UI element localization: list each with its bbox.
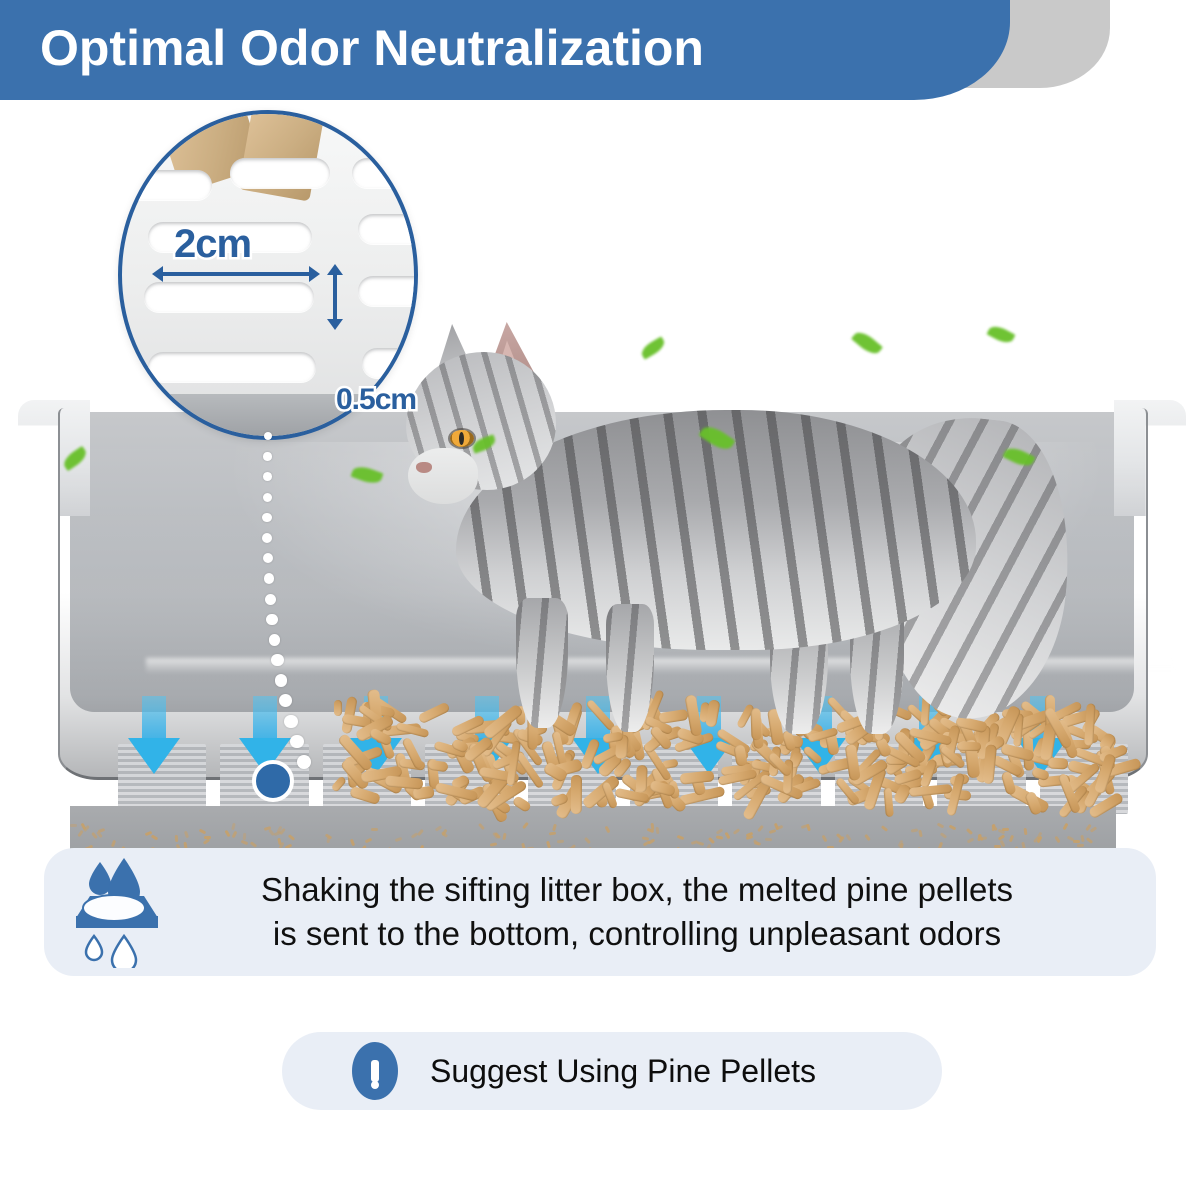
- pine-pellet: [679, 770, 714, 784]
- sawdust-speck: [1080, 835, 1084, 842]
- width-dimension-arrow: [152, 266, 320, 280]
- cat-front-right-leg: [606, 604, 654, 732]
- sawdust-speck: [765, 838, 772, 842]
- connector-dot: [275, 674, 288, 687]
- grate-slot: [352, 158, 418, 188]
- arrow-bottom-head: [327, 319, 343, 330]
- sawdust-speck: [716, 835, 723, 839]
- product-scene: 2cm 0.5cm: [0, 100, 1200, 830]
- sawdust-speck: [243, 832, 247, 839]
- pine-pellet: [1048, 757, 1068, 769]
- width-dimension-label: 2cm: [174, 222, 251, 267]
- connector-dot: [265, 594, 276, 605]
- sawdust-speck: [864, 834, 871, 841]
- connector-dot: [263, 472, 272, 481]
- sawdust-speck: [979, 836, 987, 841]
- connector-dot: [290, 735, 304, 749]
- sawdust-speck: [151, 834, 159, 840]
- sawdust-speck: [490, 842, 497, 846]
- connector-dot: [297, 755, 311, 769]
- pine-pellet: [635, 765, 647, 793]
- sawdust-speck: [648, 838, 656, 844]
- infographic-page: Optimal Odor Neutralization: [0, 0, 1200, 1200]
- grate-slot: [358, 214, 418, 244]
- connector-dot: [269, 634, 281, 646]
- arrow-right-head: [309, 266, 320, 282]
- sawdust-speck: [502, 833, 506, 840]
- sawdust-speck: [584, 837, 591, 844]
- height-dimension-label: 0.5cm: [336, 383, 416, 417]
- sawdust-speck: [1076, 844, 1083, 848]
- exclamation-icon: [352, 1042, 398, 1100]
- connector-dot: [262, 533, 272, 543]
- sawdust-speck: [1086, 837, 1093, 844]
- info-line-1: Shaking the sifting litter box, the melt…: [162, 868, 1112, 912]
- sawdust-speck: [232, 831, 238, 839]
- cat-eye: [450, 430, 474, 447]
- odor-info-text: Shaking the sifting litter box, the melt…: [162, 868, 1130, 955]
- sawdust-speck: [349, 839, 354, 847]
- sawdust-speck: [940, 833, 947, 840]
- pine-pellet: [845, 743, 861, 780]
- pine-pellet: [802, 745, 823, 765]
- arrow-shaft: [142, 696, 166, 740]
- pine-pellet: [349, 786, 381, 806]
- connector-dot: [284, 715, 297, 728]
- sawdust-speck: [708, 837, 715, 844]
- suggest-banner: Suggest Using Pine Pellets: [282, 1032, 942, 1110]
- pine-pellet: [957, 742, 981, 751]
- sawdust-speck: [919, 830, 923, 837]
- grate-slot: [230, 158, 330, 188]
- sawdust-speck: [224, 830, 230, 838]
- arrow-shaft: [160, 272, 312, 276]
- connector-dot: [271, 654, 283, 666]
- arrow-head: [128, 738, 180, 774]
- sawdust-speck: [1009, 834, 1014, 842]
- sawdust-speck: [1073, 839, 1080, 842]
- sawdust-speck: [110, 840, 115, 848]
- sawdust-speck: [410, 832, 417, 838]
- connector-dot: [263, 553, 273, 563]
- page-title: Optimal Odor Neutralization: [0, 23, 704, 73]
- water-drop-filter-icon: [66, 856, 162, 968]
- sawdust-speck: [846, 834, 852, 841]
- pine-pellet: [331, 776, 348, 794]
- arrow-shaft: [333, 271, 337, 323]
- grate-slot: [358, 276, 418, 306]
- sawdust-speck: [203, 838, 210, 845]
- odor-info-banner: Shaking the sifting litter box, the melt…: [44, 848, 1156, 976]
- callout-connector-line: [180, 430, 320, 780]
- connector-dot: [266, 614, 277, 625]
- sawdust-speck: [395, 837, 403, 842]
- grate-slot: [118, 170, 212, 200]
- callout-marker-dot: [252, 760, 294, 802]
- pine-pellet: [334, 700, 342, 716]
- suggest-label: Suggest Using Pine Pellets: [398, 1053, 816, 1090]
- cat-illustration: [398, 322, 1078, 742]
- cat-nose: [416, 462, 432, 473]
- sawdust-speck: [677, 835, 685, 840]
- connector-dot: [264, 432, 272, 440]
- sawdust-speck: [184, 831, 189, 839]
- connector-dot: [279, 694, 292, 707]
- pine-pellet: [571, 775, 582, 814]
- sawdust-speck: [557, 839, 564, 843]
- sawdust-speck: [175, 834, 179, 841]
- connector-dot: [263, 452, 271, 460]
- sawdust-speck: [967, 837, 975, 843]
- grate-slot: [148, 352, 316, 382]
- sawdust-speck: [1054, 836, 1060, 844]
- sawdust-speck: [549, 831, 556, 835]
- airflow-arrow: [128, 696, 180, 774]
- sawdust-speck: [753, 841, 761, 846]
- connector-dot: [262, 513, 272, 523]
- exclamation-bar: [371, 1060, 379, 1082]
- header-banner: Optimal Odor Neutralization: [0, 0, 1010, 100]
- sawdust-speck: [241, 840, 249, 846]
- sawdust-speck: [288, 834, 295, 841]
- sawdust-speck: [365, 837, 373, 843]
- grate-slot: [362, 348, 418, 378]
- exclamation-dot: [371, 1081, 379, 1089]
- connector-dot: [264, 573, 275, 584]
- sawdust-speck: [250, 841, 257, 848]
- height-dimension-arrow: [327, 264, 343, 330]
- sawdust-speck: [822, 835, 828, 843]
- info-line-2: is sent to the bottom, controlling unple…: [162, 912, 1112, 956]
- sawdust-speck: [696, 841, 704, 846]
- cat-muzzle: [408, 448, 478, 504]
- sawdust-speck: [325, 833, 333, 839]
- cat-head: [406, 352, 556, 490]
- connector-dot: [263, 493, 272, 502]
- sawdust-speck: [724, 832, 730, 840]
- grate-slot: [144, 282, 314, 312]
- cat-front-left-leg: [516, 598, 568, 728]
- sawdust-speck: [77, 830, 83, 837]
